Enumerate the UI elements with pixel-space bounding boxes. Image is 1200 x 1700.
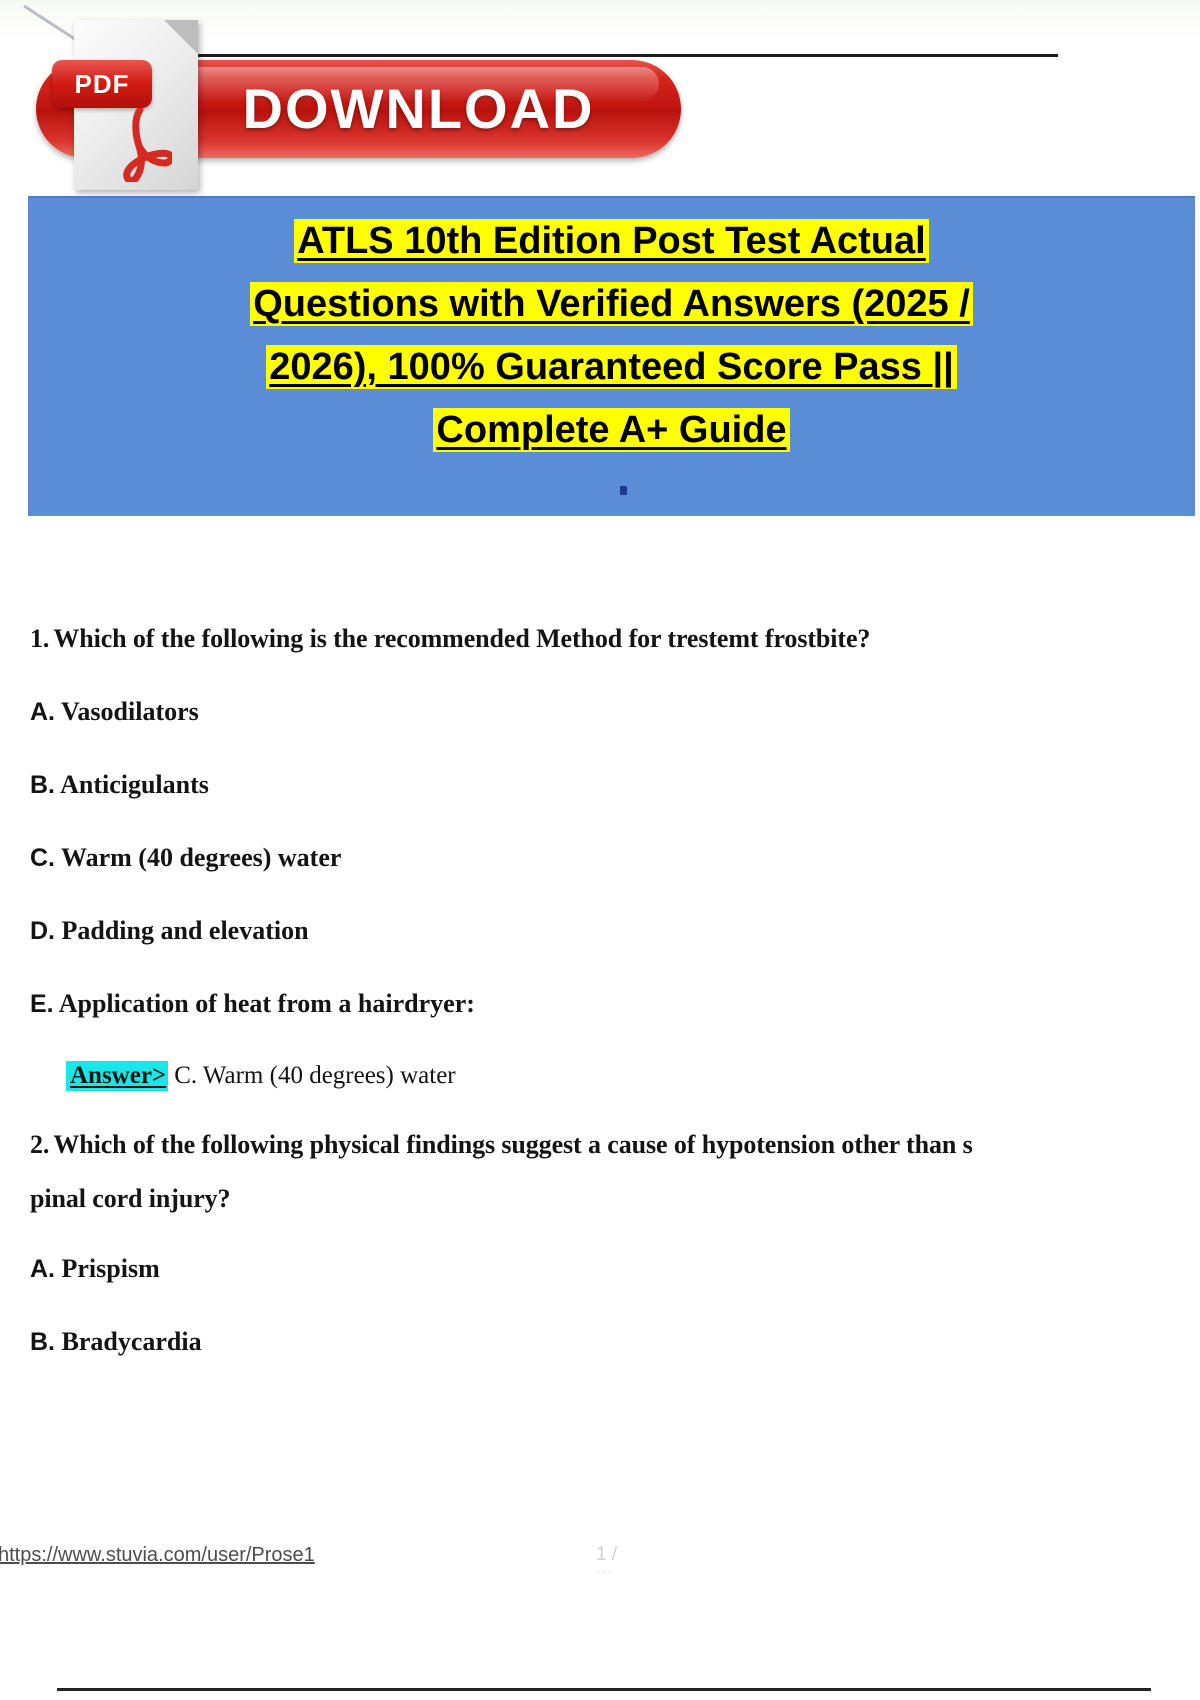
option-letter: D. <box>30 917 55 945</box>
answer-key-label: Answer> <box>66 1061 168 1091</box>
question-1-option-b[interactable]: B. Anticigulants <box>30 770 1180 800</box>
footer-profile-url[interactable]: https://www.stuvia.com/user/Prose1 <box>0 1544 315 1567</box>
option-letter: B. <box>30 1328 55 1356</box>
question-2-number: 2. <box>30 1130 49 1159</box>
question-2-prompt-line-1: Which of the following physical findings… <box>53 1130 972 1159</box>
question-1: 1. Which of the following is the recomme… <box>30 624 1180 654</box>
title-trailing-dot <box>620 486 627 495</box>
option-text: Padding and elevation <box>62 916 309 945</box>
option-text: Application of heat from a hairdryer: <box>59 989 475 1018</box>
question-2-prompt-line-2: pinal cord injury? <box>30 1184 230 1213</box>
title-line-4: Complete A+ Guide <box>28 399 1195 462</box>
question-2-line-1: 2. Which of the following physical findi… <box>30 1130 1180 1160</box>
question-1-option-c[interactable]: C. Warm (40 degrees) water <box>30 843 1180 873</box>
option-text: Anticigulants <box>60 770 209 799</box>
question-2-option-b[interactable]: B. Bradycardia <box>30 1327 1180 1357</box>
title-line-2: Questions with Verified Answers (2025 / <box>28 273 1195 336</box>
question-2-line-2: pinal cord injury? <box>30 1184 1180 1214</box>
pdf-icon-label: PDF <box>52 60 152 108</box>
document-title: ATLS 10th Edition Post Test Actual Quest… <box>28 210 1195 462</box>
footer-page-dots: ... <box>596 1560 617 1577</box>
answer-value: C. Warm (40 degrees) water <box>174 1062 455 1089</box>
footer-page-indicator: 1 / ... <box>596 1544 617 1577</box>
question-1-prompt: Which of the following is the recommende… <box>53 624 870 653</box>
option-letter: A. <box>30 698 55 726</box>
option-letter: B. <box>30 771 55 799</box>
option-text: Warm (40 degrees) water <box>61 843 341 872</box>
title-line-1: ATLS 10th Edition Post Test Actual <box>28 210 1195 273</box>
pdf-file-icon: PDF <box>52 20 200 192</box>
page-footer: https://www.stuvia.com/user/Prose1 1 / .… <box>0 1544 1200 1574</box>
question-2-option-a[interactable]: A. Prispism <box>30 1254 1180 1284</box>
question-content: 1. Which of the following is the recomme… <box>30 624 1180 1400</box>
option-text: Prispism <box>62 1254 160 1283</box>
question-1-option-a[interactable]: A. Vasodilators <box>30 697 1180 727</box>
option-letter: A. <box>30 1255 55 1283</box>
question-1-option-d[interactable]: D. Padding and elevation <box>30 916 1180 946</box>
document-page: DOWNLOAD PDF ATLS 10th Edition Post Test… <box>0 0 1200 1700</box>
question-1-number: 1. <box>30 624 49 653</box>
option-text: Vasodilators <box>61 697 199 726</box>
title-banner: ATLS 10th Edition Post Test Actual Quest… <box>28 196 1195 516</box>
download-banner[interactable]: DOWNLOAD PDF <box>22 6 682 192</box>
pdf-page-fold-icon <box>164 20 198 54</box>
option-letter: C. <box>30 844 55 872</box>
question-1-answer: Answer>C. Warm (40 degrees) water <box>66 1062 1180 1090</box>
pdf-label-tab: PDF <box>52 60 152 108</box>
title-line-3: 2026), 100% Guaranteed Score Pass || <box>28 336 1195 399</box>
footer-rule <box>57 1688 1151 1691</box>
acrobat-swirl-icon <box>108 108 172 182</box>
option-letter: E. <box>30 990 54 1018</box>
question-1-option-e[interactable]: E. Application of heat from a hairdryer: <box>30 989 1180 1019</box>
option-text: Bradycardia <box>62 1327 202 1356</box>
